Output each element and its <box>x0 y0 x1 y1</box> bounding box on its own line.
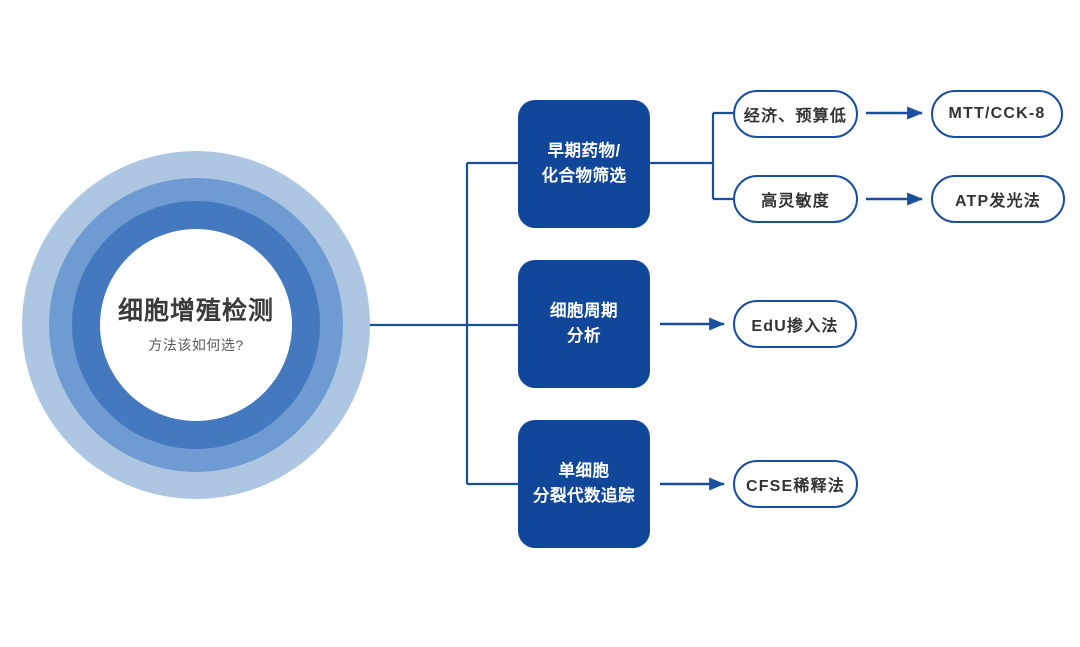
category-box-drug-screening-label: 早期药物/ 化合物筛选 <box>542 139 627 189</box>
diagram-canvas: 细胞增殖检测 方法该如何选? 早期药物/ 化合物筛选 细胞周期 分析 单细胞 分… <box>0 0 1080 647</box>
hub-graphic: 细胞增殖检测 方法该如何选? <box>22 151 370 499</box>
result-pill-atp-luminescence[interactable]: ATP发光法 <box>931 175 1065 223</box>
category-box-single-cell[interactable]: 单细胞 分裂代数追踪 <box>518 420 650 548</box>
category-line-2: 分析 <box>567 327 601 345</box>
hub-subtitle: 方法该如何选? <box>148 335 243 355</box>
category-box-drug-screening[interactable]: 早期药物/ 化合物筛选 <box>518 100 650 228</box>
category-box-single-cell-label: 单细胞 分裂代数追踪 <box>533 459 635 509</box>
result-pill-cfse-dilution[interactable]: CFSE稀释法 <box>733 460 858 508</box>
category-line-1: 细胞周期 <box>550 302 618 320</box>
condition-pill-low-budget[interactable]: 经济、预算低 <box>733 90 858 138</box>
result-pill-edu-incorporation[interactable]: EdU掺入法 <box>733 300 857 348</box>
category-line-2: 分裂代数追踪 <box>533 487 635 505</box>
hub-core: 细胞增殖检测 方法该如何选? <box>100 229 292 421</box>
category-box-cell-cycle[interactable]: 细胞周期 分析 <box>518 260 650 388</box>
category-line-1: 早期药物/ <box>547 142 620 160</box>
category-line-2: 化合物筛选 <box>542 167 627 185</box>
category-box-cell-cycle-label: 细胞周期 分析 <box>550 299 618 349</box>
hub-title: 细胞增殖检测 <box>118 296 274 326</box>
category-line-1: 单细胞 <box>559 462 610 480</box>
condition-pill-high-sensitivity[interactable]: 高灵敏度 <box>733 175 858 223</box>
result-pill-mtt-cck8[interactable]: MTT/CCK-8 <box>931 90 1063 138</box>
